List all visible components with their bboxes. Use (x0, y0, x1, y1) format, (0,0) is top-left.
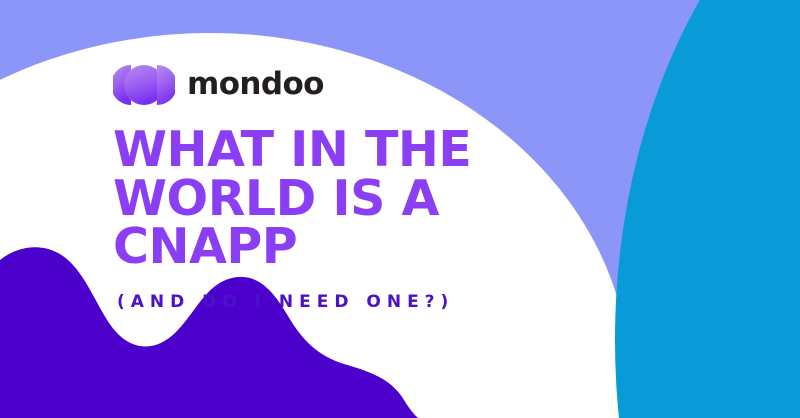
banner-content: mondoo WHAT IN THE WORLD IS A CNAPP (AND… (113, 62, 633, 312)
blog-banner: mondoo WHAT IN THE WORLD IS A CNAPP (AND… (0, 0, 800, 418)
mondoo-wordmark: mondoo (187, 69, 324, 102)
mondoo-logo-mark-icon (113, 65, 175, 105)
banner-subheadline: (AND DO I NEED ONE?) (117, 292, 633, 312)
brand-lockup: mondoo (113, 62, 633, 108)
cyan-circle-shape (615, 0, 800, 418)
banner-headline: WHAT IN THE WORLD IS A CNAPP (113, 126, 513, 272)
